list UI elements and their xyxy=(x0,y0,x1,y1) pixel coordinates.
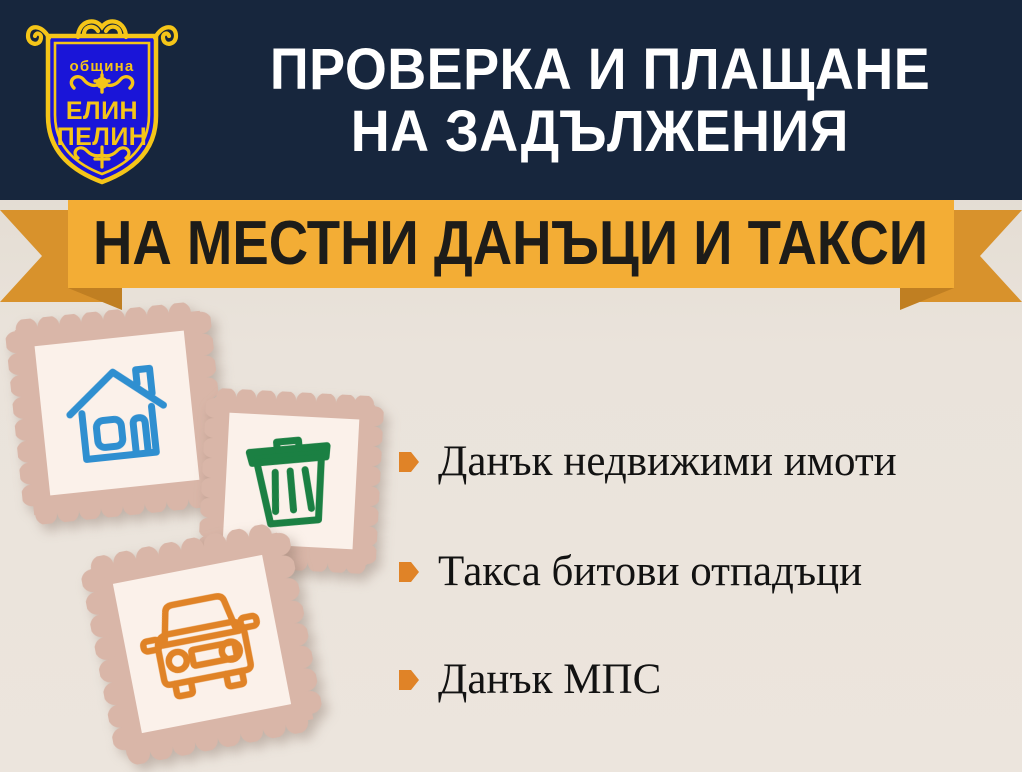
arrow-pentagon-bullet-icon xyxy=(398,667,420,693)
municipality-logo: община ЕЛИН ПЕЛИН xyxy=(22,12,182,190)
stamp-scalloped-border xyxy=(4,300,230,526)
stamp-card-vehicle xyxy=(78,520,327,769)
page-title-line-2: НА ЗАДЪЛЖЕНИЯ xyxy=(351,102,849,162)
list-item-label: Данък МПС xyxy=(438,656,661,704)
services-list: Данък недвижими имоти Такса битови отпад… xyxy=(398,420,1008,720)
page-title: ПРОВЕРКА И ПЛАЩАНЕ НА ЗАДЪЛЖЕНИЯ xyxy=(190,16,1010,186)
logo-municipality-word: община xyxy=(70,58,135,75)
arrow-pentagon-bullet-icon xyxy=(398,559,420,585)
list-item[interactable]: Данък недвижими имоти xyxy=(398,438,897,486)
logo-name-line-1: ЕЛИН xyxy=(66,97,138,125)
stamp-card-property xyxy=(4,300,230,526)
arrow-pentagon-bullet-icon xyxy=(398,449,420,475)
list-item-label: Данък недвижими имоти xyxy=(438,438,897,486)
stamp-scalloped-border xyxy=(78,520,327,769)
list-item[interactable]: Данък МПС xyxy=(398,656,661,704)
ribbon-label: НА МЕСТНИ ДАНЪЦИ И ТАКСИ xyxy=(93,213,928,275)
elin-pelin-coat-of-arms-icon: община ЕЛИН ПЕЛИН xyxy=(22,12,182,190)
ribbon-banner: НА МЕСТНИ ДАНЪЦИ И ТАКСИ xyxy=(68,200,954,288)
list-item[interactable]: Такса битови отпадъци xyxy=(398,548,862,596)
list-item-label: Такса битови отпадъци xyxy=(438,548,862,596)
subtitle-ribbon: НА МЕСТНИ ДАНЪЦИ И ТАКСИ xyxy=(0,196,1022,308)
page-title-line-1: ПРОВЕРКА И ПЛАЩАНЕ xyxy=(270,40,930,100)
